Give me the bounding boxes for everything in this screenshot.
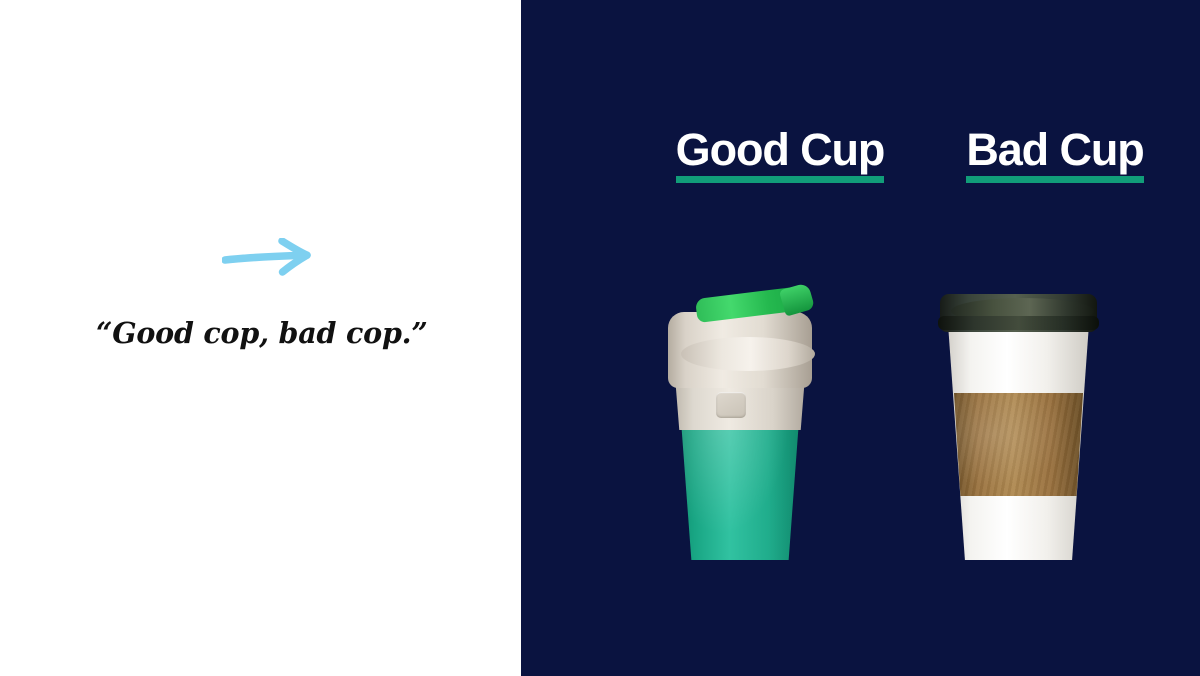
reusable-cup-lid-top — [681, 337, 815, 371]
disposable-cup-sleeve-texture — [954, 393, 1083, 496]
heading-good-cup-label: Good Cup — [676, 126, 885, 183]
heading-good-cup: Good Cup — [620, 126, 940, 183]
quote-text: “Good cop, bad cop.” — [96, 316, 426, 350]
reusable-coffee-cup-image — [660, 280, 820, 560]
arrow-right-icon — [222, 238, 322, 278]
heading-bad-cup-label: Bad Cup — [966, 126, 1143, 183]
slide-canvas: “Good cop, bad cop.” Good Cup Bad Cup — [0, 0, 1200, 676]
heading-bad-cup: Bad Cup — [910, 126, 1200, 183]
reusable-cup-logo-emboss — [716, 392, 746, 418]
right-panel: Good Cup Bad Cup — [521, 0, 1200, 676]
disposable-cup-lid-rim — [938, 316, 1099, 330]
reusable-cup-lid — [668, 312, 812, 388]
left-panel: “Good cop, bad cop.” — [0, 0, 521, 676]
disposable-coffee-cup-image — [936, 280, 1101, 560]
